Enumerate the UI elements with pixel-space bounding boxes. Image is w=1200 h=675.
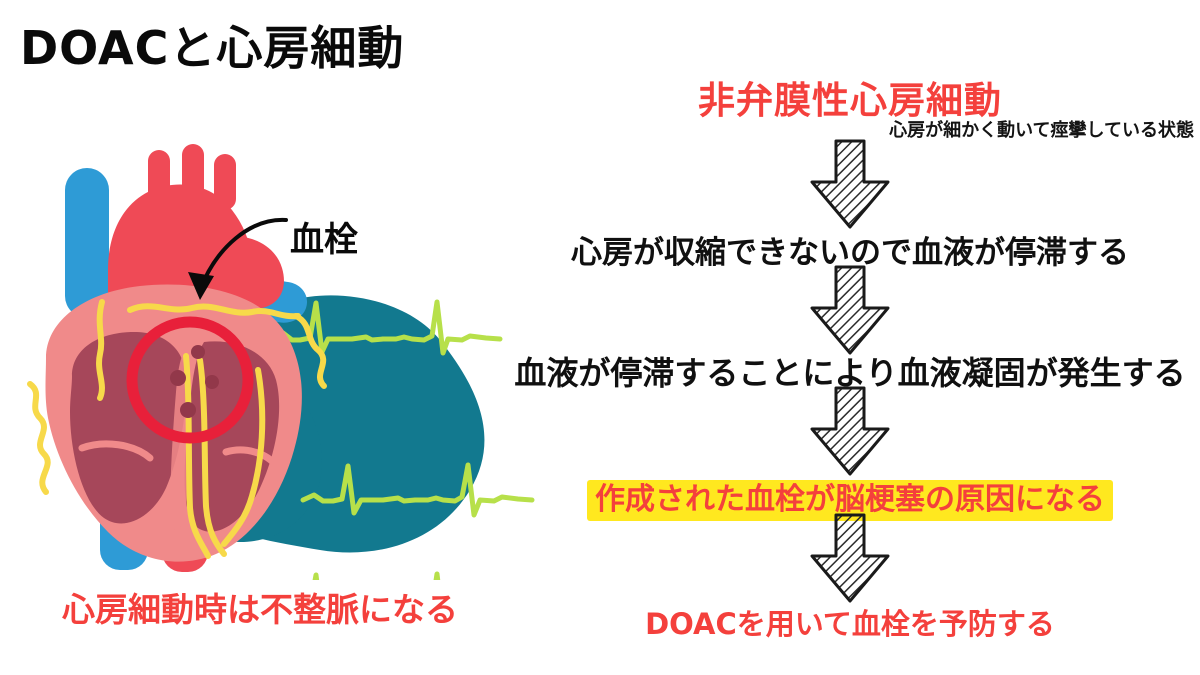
ecg-trace-3	[272, 574, 500, 580]
arrhythmia-caption: 心房細動時は不整脈になる	[0, 583, 520, 631]
nerve-top-left	[99, 302, 102, 398]
page-title: DOACと心房細動	[20, 12, 404, 78]
down-arrow-icon	[795, 264, 905, 356]
down-arrow-icon	[795, 385, 905, 477]
down-arrow-icon	[795, 512, 905, 604]
nerve-left-squiggle	[30, 384, 48, 492]
pathophysiology-flow: 非弁膜性心房細動 心房が細かく動いて痙攣している状態 心房が収縮できないので血液…	[500, 60, 1200, 675]
down-arrow-icon	[795, 138, 905, 230]
thrombus-label: 血栓	[290, 212, 358, 261]
heart-illustration	[0, 140, 560, 580]
flow-step-5: DOACを用いて血栓を予防する	[500, 601, 1200, 643]
